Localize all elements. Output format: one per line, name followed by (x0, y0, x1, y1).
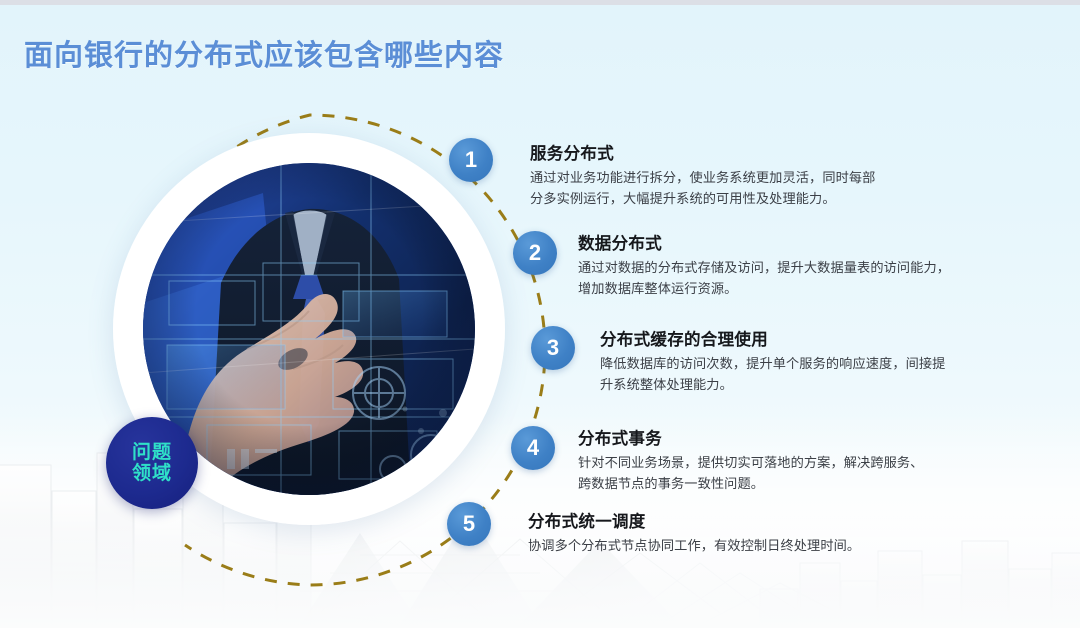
item-heading-4: 分布式事务 (578, 425, 998, 449)
step-badge-4[interactable]: 4 (511, 426, 555, 470)
list-item-2: 数据分布式 通过对数据的分布式存储及访问，提升大数据量表的访问能力， 增加数据库… (578, 230, 1008, 300)
item-heading-1: 服务分布式 (530, 140, 950, 164)
top-strip (0, 0, 1080, 5)
item-body-3: 降低数据库的访问次数，提升单个服务的响应速度，间接提 升系统整体处理能力。 (600, 353, 1020, 396)
step-badge-3[interactable]: 3 (531, 326, 575, 370)
slide-canvas: 面向银行的分布式应该包含哪些内容 (0, 0, 1080, 628)
item-body-4: 针对不同业务场景，提供切实可落地的方案，解决跨服务、 跨数据节点的事务一致性问题… (578, 452, 998, 495)
item-body-2: 通过对数据的分布式存储及访问，提升大数据量表的访问能力， 增加数据库整体运行资源… (578, 257, 1008, 300)
step-badge-2[interactable]: 2 (513, 231, 557, 275)
problem-domain-line1: 问题 (132, 442, 172, 463)
item-heading-5: 分布式统一调度 (528, 508, 958, 532)
list-item-4: 分布式事务 针对不同业务场景，提供切实可落地的方案，解决跨服务、 跨数据节点的事… (578, 425, 998, 495)
item-body-1: 通过对业务功能进行拆分，使业务系统更加灵活，同时每部 分多实例运行，大幅提升系统… (530, 167, 950, 210)
item-body-5: 协调多个分布式节点协同工作，有效控制日终处理时间。 (528, 535, 958, 556)
step-badge-5[interactable]: 5 (447, 502, 491, 546)
list-item-3: 分布式缓存的合理使用 降低数据库的访问次数，提升单个服务的响应速度，间接提 升系… (600, 326, 1020, 396)
page-title: 面向银行的分布式应该包含哪些内容 (24, 32, 504, 74)
problem-domain-line2: 领域 (132, 463, 172, 484)
list-item-1: 服务分布式 通过对业务功能进行拆分，使业务系统更加灵活，同时每部 分多实例运行，… (530, 140, 950, 210)
item-heading-3: 分布式缓存的合理使用 (600, 326, 1020, 350)
list-item-5: 分布式统一调度 协调多个分布式节点协同工作，有效控制日终处理时间。 (528, 508, 958, 556)
step-badge-1[interactable]: 1 (449, 138, 493, 182)
problem-domain-badge: 问题 领域 (106, 417, 198, 509)
item-heading-2: 数据分布式 (578, 230, 1008, 254)
